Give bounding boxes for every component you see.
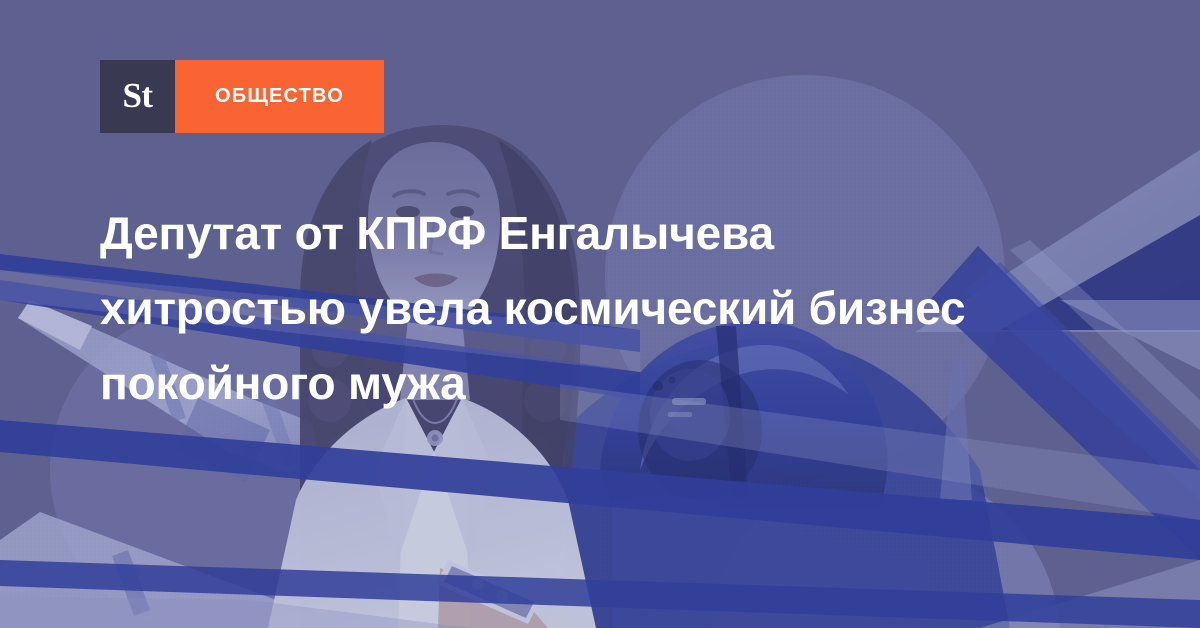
headline-line-2: хитростью увела космический бизнес [100,271,1110,346]
headline-line-3: покойного мужа [100,346,1110,421]
headline-line-1: Депутат от КПРФ Енгалычева [100,196,1110,271]
brand-bar[interactable]: St ОБЩЕСТВО [100,60,384,133]
site-logo[interactable]: St [100,60,175,133]
social-share-card: St ОБЩЕСТВО Депутат от КПРФ Енгалычева х… [0,0,1200,628]
headline: Депутат от КПРФ Енгалычева хитростью уве… [100,196,1110,421]
rubric-label: ОБЩЕСТВО [215,85,344,108]
site-logo-text: St [122,78,152,115]
rubric-badge[interactable]: ОБЩЕСТВО [175,60,384,133]
